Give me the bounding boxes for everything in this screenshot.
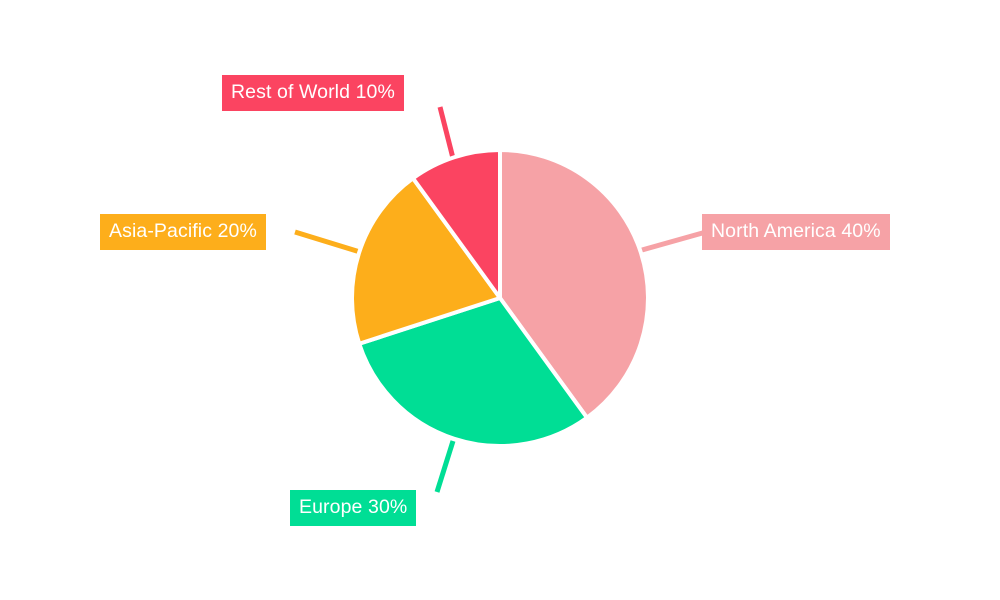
slice-label-text: Rest of World 10%	[231, 83, 395, 103]
leader-line-asia-pacific	[295, 232, 360, 252]
slice-label-text: Europe 30%	[299, 498, 407, 518]
leader-line-europe	[437, 441, 453, 492]
leader-line-north-america	[642, 232, 706, 250]
slice-label-asia-pacific: Asia-Pacific 20%	[100, 214, 266, 250]
slice-label-north-america: North America 40%	[702, 214, 890, 250]
slice-label-rest-of-world: Rest of World 10%	[222, 75, 404, 111]
slice-label-text: Asia-Pacific 20%	[109, 222, 257, 242]
slice-label-europe: Europe 30%	[290, 490, 416, 526]
pie-chart-canvas	[0, 0, 1000, 600]
slice-label-text: North America 40%	[711, 222, 881, 242]
pie-chart-figure: North America 40% Europe 30% Asia-Pacifi…	[0, 0, 1000, 600]
